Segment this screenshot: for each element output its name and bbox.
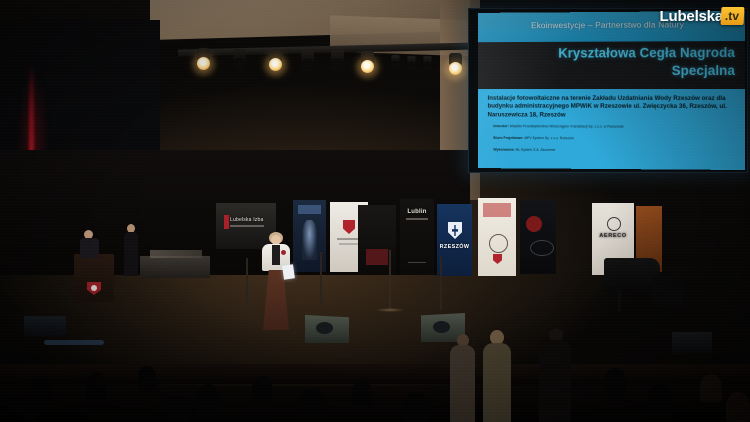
- stage-light-9: [448, 53, 463, 75]
- projection-screen: Ekoinwestycje – Partnerstwo dla Natury K…: [468, 8, 748, 173]
- floor-case-right: [672, 332, 712, 354]
- banner-label-4: RZESZÓW: [437, 244, 472, 250]
- stage-light-6: [391, 55, 401, 69]
- stage-light-5: [360, 51, 375, 73]
- speaker-brooch: [281, 250, 286, 255]
- attendee-2-body: [483, 343, 511, 422]
- mic-stand-2: [320, 252, 322, 308]
- lectern-person-torso: [80, 238, 99, 258]
- award-title-line2: Specjalna: [507, 63, 735, 78]
- table-items: [150, 250, 202, 258]
- audience-silhouette-12: [12, 396, 38, 422]
- stage-monitor-left: [305, 315, 349, 343]
- broadcast-frame: Lubelska Izba Lublin RZESZÓW AERECO: [0, 0, 750, 422]
- audience-silhouette-7: [404, 392, 428, 422]
- slide-credit-1: Biuro Projektowe: MPV System Sp. z o.o. …: [493, 136, 731, 141]
- side-table: [140, 256, 210, 278]
- stage-light-1: [232, 49, 247, 71]
- audience-silhouette-8: [604, 368, 626, 396]
- mic-stand-3: [389, 250, 391, 310]
- stage-light-4: [330, 50, 345, 72]
- audience-silhouette-4: [252, 376, 272, 404]
- audience-silhouette-1: [86, 372, 106, 400]
- monitor-grille-icon-2: [433, 321, 450, 333]
- banner-label-3: Lublin: [400, 209, 434, 215]
- lectern-emblem-inner: [91, 285, 97, 291]
- person-at-lectern: [80, 230, 100, 258]
- mic-stand-1: [246, 258, 248, 310]
- audience-silhouette-2: [138, 366, 156, 390]
- stage-light-0: [196, 48, 211, 70]
- presentation-slide: Ekoinwestycje – Partnerstwo dla Natury K…: [478, 11, 745, 170]
- seating-row-back: [0, 364, 750, 384]
- stage-light-8: [423, 56, 433, 70]
- standing-attendee-3: [538, 328, 572, 422]
- audience-silhouette-3: [196, 384, 220, 416]
- lectern-left: [74, 254, 114, 302]
- banner-label-0: Lubelska Izba: [230, 217, 276, 223]
- audience-silhouette-9: [648, 384, 674, 418]
- audience-silhouette-6: [352, 380, 372, 406]
- banner-label-7: AERECO: [592, 233, 634, 239]
- standing-person-body: [124, 232, 138, 276]
- piano-leg: [618, 290, 621, 312]
- audience-silhouette-11: [726, 392, 750, 422]
- aereco-mark-icon: [607, 217, 621, 231]
- standing-attendee-1: [448, 334, 476, 422]
- slide-body: Instalacje fotowoltaiczne na terenie Zak…: [478, 89, 745, 170]
- slide-project-description: Instalacje fotowoltaiczne na terenie Zak…: [488, 95, 734, 120]
- monitor-grille-icon: [316, 322, 333, 334]
- attendee-3-body: [539, 340, 571, 422]
- stage-light-2: [268, 49, 283, 71]
- audience-silhouette-13: [164, 396, 190, 422]
- mic-stand-base: [376, 308, 404, 312]
- slide-credit-0: Inwestor: Miejskie Przedsiębiorstwo Wodo…: [493, 124, 731, 129]
- channel-logo-tv-badge: .tv: [721, 7, 745, 25]
- person-standing-left: [123, 224, 139, 276]
- speaker-woman: [257, 232, 295, 332]
- mic-stand-4: [440, 256, 442, 310]
- banner-builder-award: [478, 198, 516, 276]
- piano-bench: [652, 276, 682, 306]
- floor-case-left: [24, 316, 66, 336]
- stage-light-3: [300, 50, 315, 72]
- channel-logo: Lubelska .tv: [660, 5, 744, 27]
- seating-row-front: [0, 386, 750, 422]
- slide-credit-2: Wykonawca: ML System S.A. Zaczernie: [493, 148, 731, 154]
- speaker-papers: [282, 264, 295, 279]
- audience-silhouette-5: [300, 388, 324, 418]
- banner-dark-red-logo: [520, 200, 556, 274]
- banner-rzeszow: RZESZÓW: [437, 204, 472, 276]
- stage-light-7: [407, 56, 417, 70]
- standing-attendee-2: [482, 330, 512, 422]
- channel-logo-word: Lubelska: [660, 8, 723, 25]
- award-title-line1: Kryształowa Cegła Nagroda: [507, 45, 735, 61]
- slide-award-title: Kryształowa Cegła Nagroda Specjalna: [478, 41, 745, 89]
- attendee-1-body: [450, 345, 475, 422]
- floor-cable-blue: [44, 340, 104, 345]
- banner-lublin-city: Lublin: [400, 199, 434, 275]
- audience-silhouette-10: [700, 374, 722, 402]
- speaker-blouse: [272, 245, 280, 265]
